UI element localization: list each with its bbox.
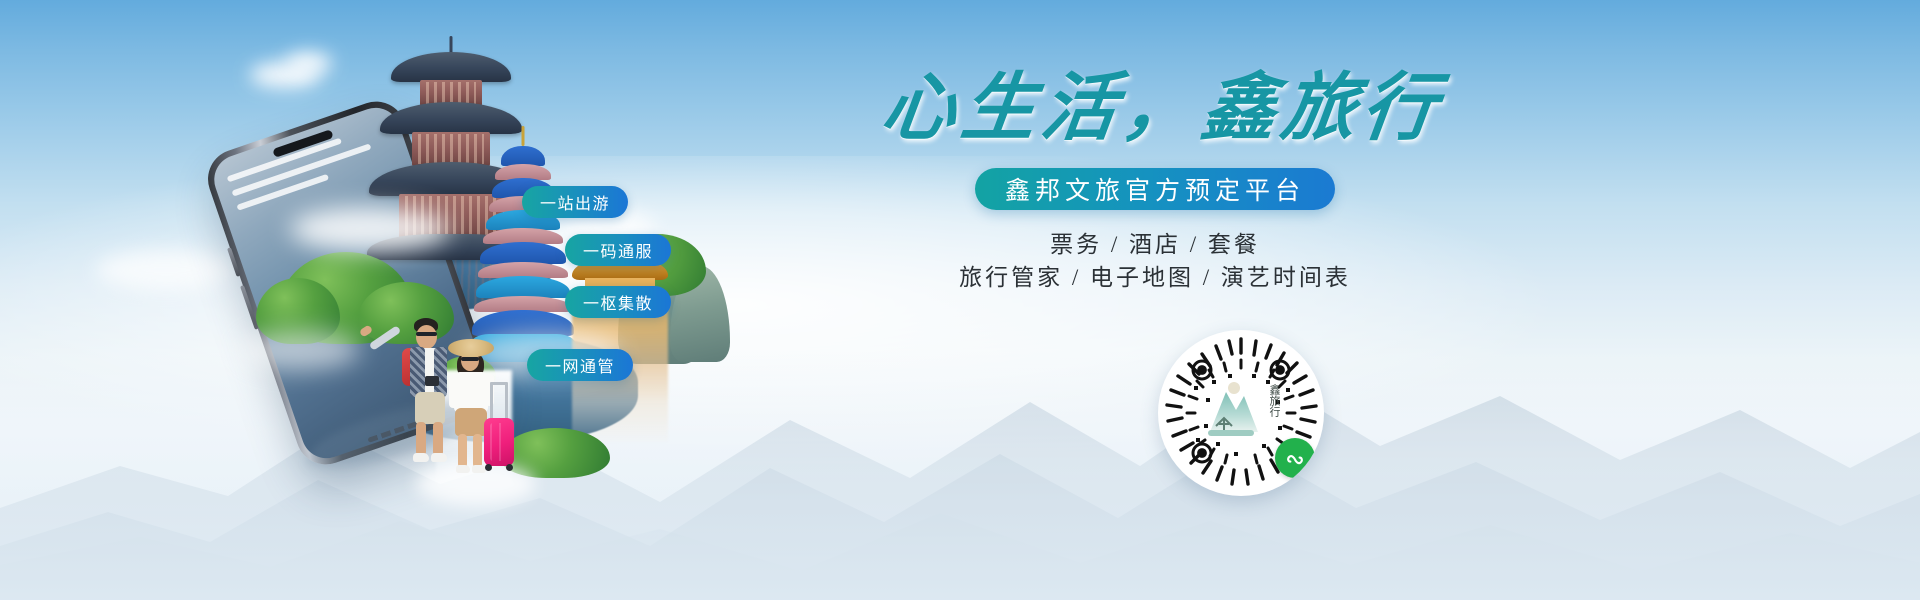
tourist-couple [366,320,556,520]
man-plaid-jacket [410,347,425,397]
headline-slogan: 心生活，鑫旅行 [814,72,1509,146]
travel-promo-banner: 一站出游 一码通服 一枢集散 一网通管 心生活，鑫旅行 鑫邦文旅官方预定平台 票… [0,0,1920,600]
feature-pill-4[interactable]: 一网通管 [527,349,633,381]
suitcase-wheel-right [506,464,513,471]
feature-pill-1-label: 一站出游 [540,190,610,214]
woman-straw-hat [448,339,494,357]
pagoda-finial [450,36,453,54]
man-sunglasses [416,332,437,336]
tower-spire [522,126,525,146]
man-leg-left [416,422,426,456]
suitcase-handle-stem-1 [490,382,493,420]
woman-shoe-left [456,465,470,473]
man-head [416,325,437,349]
woman-leg-left [458,434,467,468]
woman-shorts [455,408,487,436]
qr-brand-text: 鑫旅行 [1268,384,1280,417]
man-shoe-left [413,453,429,462]
pagoda-body-1 [420,80,482,106]
suitcase-handle-stem-2 [505,382,508,420]
promo-copy-block: 心生活，鑫旅行 鑫邦文旅官方预定平台 票务 / 酒店 / 套餐 旅行管家 / 电… [805,72,1505,295]
platform-name-pill[interactable]: 鑫邦文旅官方预定平台 [975,168,1335,210]
tower-tier-1 [501,146,545,166]
feature-pill-2[interactable]: 一码通服 [565,234,671,266]
feature-pill-3-label: 一枢集散 [583,290,653,314]
feature-pill-2-label: 一码通服 [583,238,653,262]
pink-suitcase [484,418,514,466]
tagline-line-2: 旅行管家 / 电子地图 / 演艺时间表 [805,261,1505,294]
wechat-miniprogram-qr-code[interactable]: 鑫旅行 [1158,330,1324,496]
woman-arm-left [449,374,458,408]
feature-pill-4-label: 一网通管 [545,353,615,377]
service-taglines: 票务 / 酒店 / 套餐 旅行管家 / 电子地图 / 演艺时间表 [805,228,1505,295]
woman-sunglasses [461,357,479,361]
woman-shoe-right [472,465,486,473]
tagline-line-1: 票务 / 酒店 / 套餐 [805,228,1505,261]
woman-blouse [454,372,488,412]
pagoda-roof-1 [391,52,511,82]
suitcase-wheel-left [485,464,492,471]
feature-pill-3[interactable]: 一枢集散 [565,286,671,318]
feature-pill-1[interactable]: 一站出游 [522,186,628,218]
platform-name-label: 鑫邦文旅官方预定平台 [1005,171,1305,207]
tower-tier-2 [495,164,551,180]
qr-center-logo: 鑫旅行 [1200,376,1282,450]
woman-leg-right [473,434,482,468]
man-camera [425,376,439,386]
man-pointing-arm [369,325,402,351]
wechat-miniprogram-badge [1275,438,1315,478]
miniprogram-glyph [1283,446,1307,470]
pagoda-body-2 [412,132,490,166]
